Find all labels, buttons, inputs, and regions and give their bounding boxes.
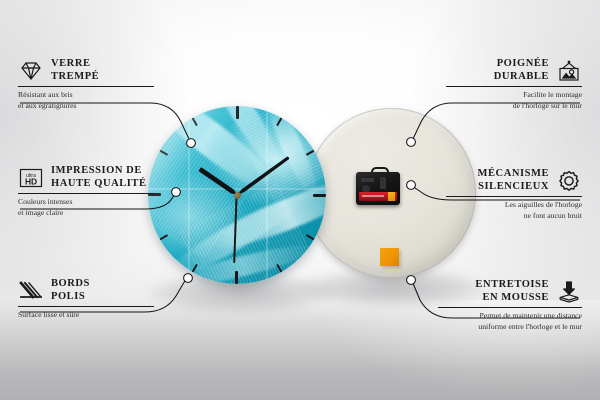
picture-hanger-icon [556,59,582,83]
feature-divider [446,86,582,87]
feature-header: POIGNÉEDURABLE [446,58,582,83]
feature-subtitle: Permet de maintenir une distanceuniforme… [438,311,582,332]
feature-impression-haute-qualite: ultra HD IMPRESSION DEHAUTE QUALITÉ Coul… [18,165,154,218]
gear-icon [556,169,582,193]
feature-subtitle: Facilite le montagede l'horloge sur le m… [446,90,582,111]
feature-poignee-durable: POIGNÉEDURABLE Facilite le montagede l'h… [446,58,582,111]
feature-divider [18,306,154,307]
mechanism-detail [380,177,386,189]
feature-title: IMPRESSION DEHAUTE QUALITÉ [51,165,147,190]
feature-divider [446,196,582,197]
feature-mecanisme-silencieux: MÉCANISMESILENCIEUX Les aiguilles de l'h… [446,168,582,221]
diamond-icon [18,59,44,83]
feature-bords-polis: BORDSPOLIS Surface lisse et sûre [18,278,154,321]
ultra-hd-icon: ultra HD [18,166,44,190]
polished-edges-icon [18,279,44,303]
feature-title: ENTRETOISEEN MOUSSE [475,279,549,304]
battery-stripe [362,195,384,197]
clock-mechanism [356,167,400,205]
feature-subtitle: Surface lisse et sûre [18,310,154,320]
feature-divider [18,86,154,87]
feature-title: MÉCANISMESILENCIEUX [478,168,549,193]
feature-subtitle: Couleurs intenseset image claire [18,197,154,218]
feature-subtitle: Les aiguilles de l'horlogene font aucun … [446,200,582,221]
feature-title: POIGNÉEDURABLE [494,58,549,83]
feature-header: VERRETREMPÉ [18,58,154,83]
feature-header: MÉCANISMESILENCIEUX [446,168,582,193]
feature-title: VERRETREMPÉ [51,58,99,83]
mechanism-detail [361,178,374,182]
battery-positive-terminal [388,192,395,201]
feature-header: ENTRETOISEEN MOUSSE [438,279,582,304]
feature-divider [18,193,154,194]
feature-divider [438,307,582,308]
feature-subtitle: Résistant aux briset aux égratignures [18,90,154,111]
feature-verre-trempe: VERRETREMPÉ Résistant aux briset aux égr… [18,58,154,111]
infographic-canvas: VERRETREMPÉ Résistant aux briset aux égr… [0,0,600,400]
foam-spacer-pad [380,248,399,266]
feature-title: BORDSPOLIS [51,278,90,303]
clock-front-view [148,106,326,284]
foam-spacer-icon [556,280,582,304]
feature-header: ultra HD IMPRESSION DEHAUTE QUALITÉ [18,165,154,190]
feature-header: BORDSPOLIS [18,278,154,303]
clock-hands-cap [234,192,241,199]
feature-entretoise-en-mousse: ENTRETOISEEN MOUSSE Permet de maintenir … [438,279,582,332]
svg-text:HD: HD [25,176,37,186]
